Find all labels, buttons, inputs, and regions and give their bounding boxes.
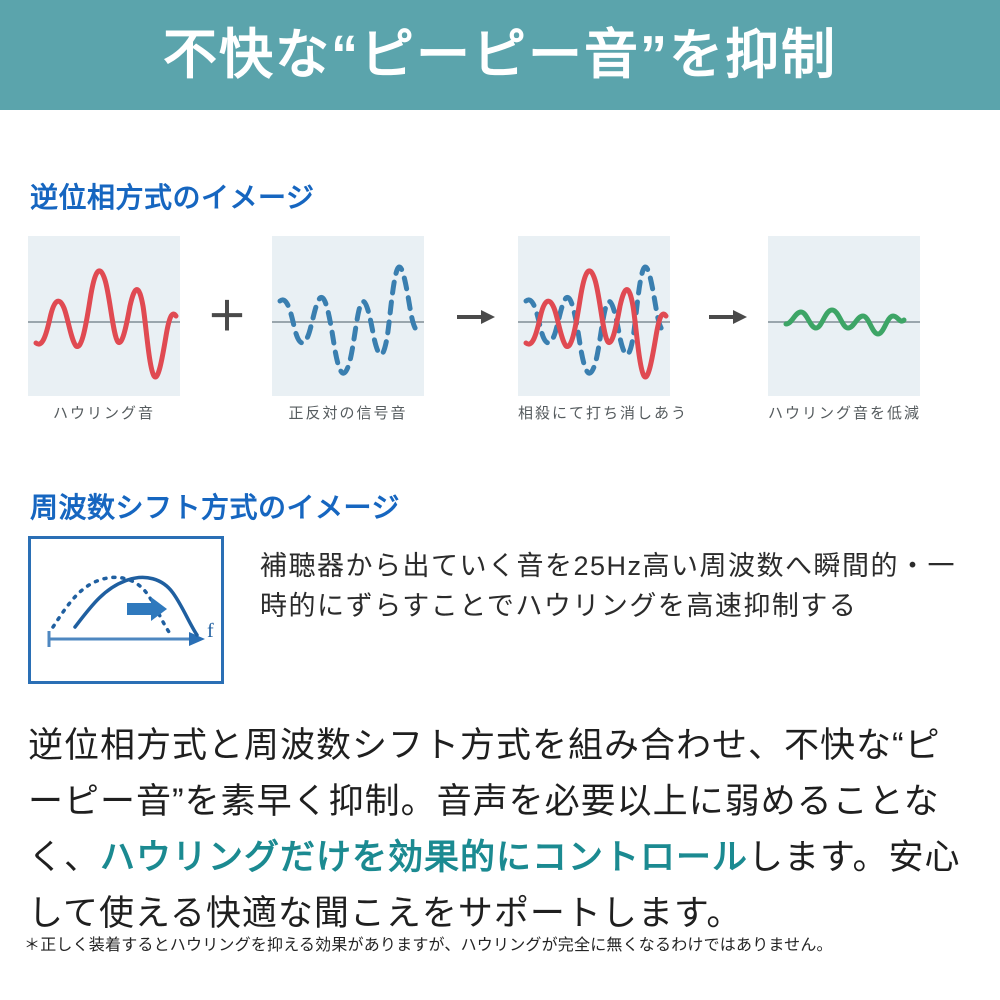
wave-panel-label: 正反対の信号音 (272, 402, 424, 423)
section-heading-antiphase: 逆位相方式のイメージ (30, 176, 314, 216)
blue-dashed-wave-icon (272, 236, 424, 396)
infographic-page: 不快な“ピーピー音”を抑制 逆位相方式のイメージ ハウリング音 ＋ (0, 0, 1000, 1000)
wave-box (272, 236, 424, 396)
wave-box (518, 236, 670, 396)
green-small-wave-icon (768, 236, 920, 396)
page-title: 不快な“ピーピー音”を抑制 (163, 28, 837, 82)
overlay-wave-icon (518, 236, 670, 396)
freq-shift-diagram: f (28, 536, 224, 684)
wave-panel-label: ハウリング音 (28, 402, 180, 423)
wave-panel-cancellation: 相殺にて打ち消しあう (518, 236, 670, 396)
wave-panel-label: 相殺にて打ち消しあう (518, 402, 670, 423)
operator-arrow-2 (704, 294, 750, 340)
red-solid-wave-icon (28, 236, 180, 396)
wave-panel-howling: ハウリング音 (28, 236, 180, 396)
freq-axis-label: f (207, 620, 214, 642)
footnote: ＊正しく装着するとハウリングを抑える効果がありますが、ハウリングが完全に無くなる… (24, 935, 976, 957)
body-paragraph: 逆位相方式と周波数シフト方式を組み合わせ、不快な“ピーピー音”を素早く抑制。音声… (28, 718, 972, 942)
wave-panel-reduced: ハウリング音を低減 (768, 236, 920, 396)
arrow-right-icon (707, 307, 747, 327)
operator-arrow-1 (452, 294, 498, 340)
freq-shift-block: f 補聴器から出ていく音を25Hz高い周波数へ瞬間的・一時的にずらすことでハウリ… (28, 536, 968, 686)
frequency-shift-curve-icon: f (31, 539, 221, 681)
header-banner: 不快な“ピーピー音”を抑制 (0, 0, 1000, 110)
plus-icon: ＋ (207, 297, 247, 337)
wave-box (768, 236, 920, 396)
wave-box (28, 236, 180, 396)
wave-panel-label: ハウリング音を低減 (768, 402, 920, 423)
arrow-right-icon (455, 307, 495, 327)
section-heading-freqshift: 周波数シフト方式のイメージ (30, 486, 400, 526)
freq-shift-description: 補聴器から出ていく音を25Hz高い周波数へ瞬間的・一時的にずらすことでハウリング… (260, 546, 966, 626)
antiphase-panel-row: ハウリング音 ＋ 正反対の信号音 (28, 236, 972, 441)
body-highlight: ハウリングだけを効果的にコントロール (100, 838, 748, 877)
operator-plus: ＋ (204, 294, 250, 340)
wave-panel-antiphase-signal: 正反対の信号音 (272, 236, 424, 396)
shift-arrow-icon (127, 597, 167, 621)
